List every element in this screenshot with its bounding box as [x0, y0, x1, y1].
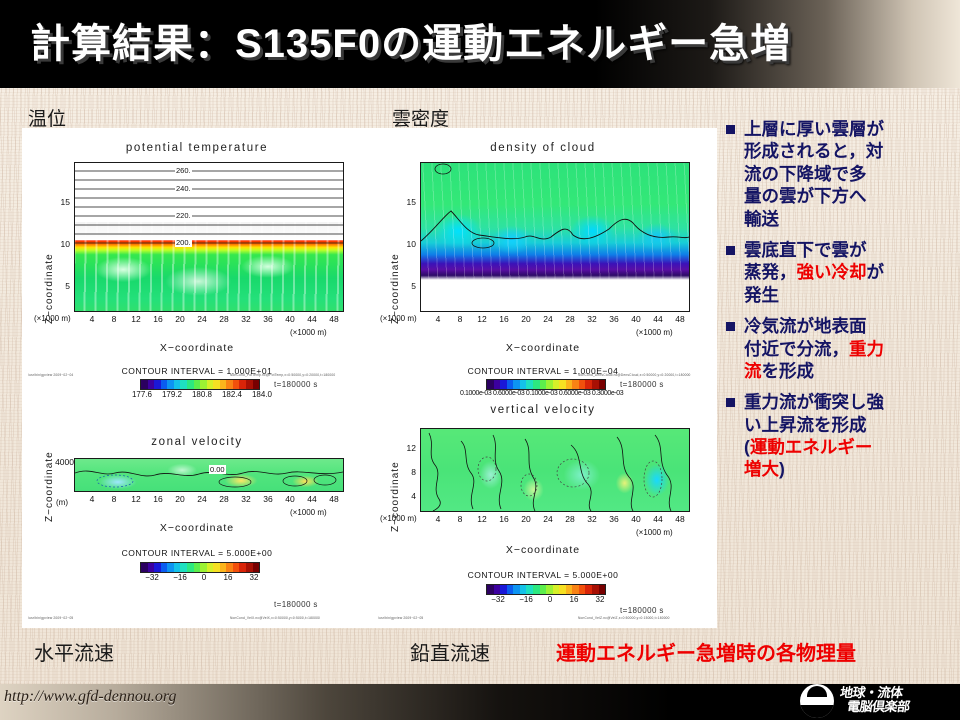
x-tick: 28 [219, 494, 228, 504]
micro-footer-right: NonCond_DensCloud.nc@DensCloud,x=0:50000… [578, 373, 691, 377]
timestamp: t=180000 s [274, 600, 318, 609]
x-unit-right: (×1000 m) [636, 528, 673, 537]
x-tick: 12 [477, 314, 486, 324]
x-tick: 40 [285, 494, 294, 504]
timestamp: t=180000 s [274, 380, 318, 389]
panel-zonal-velocity: zonal velocity Z−coordinate 4000 (m) 0.0… [32, 416, 362, 616]
x-tick: 44 [307, 494, 316, 504]
x-axis-label: X−coordinate [378, 544, 708, 556]
x-tick: 48 [329, 494, 338, 504]
cbar-tick: 0 [548, 595, 552, 604]
page-title: 計算結果：S135F0の運動エネルギー急増 [30, 24, 791, 64]
cbar-tick: 0 [202, 573, 206, 582]
x-tick: 16 [499, 514, 508, 524]
panel-title: zonal velocity [32, 436, 362, 448]
cbar-tick: −32 [491, 595, 505, 604]
cbar-tick: 182.4 [222, 390, 242, 399]
footer-url[interactable]: http://www.gfd-dennou.org [4, 688, 176, 706]
label-potential-temperature: 温位 [28, 104, 66, 131]
bullet-text-3: 冷気流が地表面付近で分流，重力流を形成 [744, 315, 884, 382]
x-tick: 12 [477, 514, 486, 524]
x-tick: 32 [241, 314, 250, 324]
y-tick: 12 [400, 443, 416, 453]
x-tick: 8 [112, 494, 117, 504]
x-tick: 16 [499, 314, 508, 324]
plot-area-vertical-velocity [420, 428, 690, 512]
timestamp: t=180000 s [620, 606, 664, 615]
x-tick: 48 [675, 514, 684, 524]
list-item: 冷気流が地表面付近で分流，重力流を形成 [726, 315, 954, 382]
micro-footer-left: /usr/bin/gpview 2009−02−04 [28, 373, 73, 377]
micro-footer-left: /usr/bin/gpview 2009−02−05 [378, 616, 423, 620]
x-tick: 40 [631, 514, 640, 524]
list-item: 重力流が衝突し強い上昇流を形成(運動エネルギー増大) [726, 391, 954, 481]
x-tick: 36 [609, 314, 618, 324]
plot-area-potential-temperature: 260. 240. 220. 200. [74, 162, 344, 312]
bullet-square-icon [726, 246, 735, 255]
colorbar-vertical-velocity [486, 584, 606, 595]
y-tick: 10 [54, 239, 70, 249]
x-tick: 44 [307, 314, 316, 324]
plot-area-density-of-cloud [420, 162, 690, 312]
contour-lines [75, 459, 343, 491]
cbar-tick: −16 [173, 573, 187, 582]
title-banner: 計算結果：S135F0の運動エネルギー急増 [0, 0, 960, 88]
x-tick: 4 [436, 314, 441, 324]
cbar-tick: 180.8 [192, 390, 212, 399]
contour-label: 260. [175, 166, 192, 175]
x-tick: 44 [653, 314, 662, 324]
x-tick: 28 [565, 314, 574, 324]
panel-title: density of cloud [378, 142, 708, 154]
x-tick: 8 [112, 314, 117, 324]
x-tick: 24 [197, 494, 206, 504]
x-tick: 24 [543, 514, 552, 524]
x-tick: 12 [131, 314, 140, 324]
bullet-text-4: 重力流が衝突し強い上昇流を形成(運動エネルギー増大) [744, 391, 884, 481]
contour-interval-note: CONTOUR INTERVAL = 5.000E+00 [378, 570, 708, 580]
x-tick: 48 [675, 314, 684, 324]
x-axis-label: X−coordinate [378, 342, 708, 354]
x-tick: 24 [543, 314, 552, 324]
cbar-tick: 32 [250, 573, 259, 582]
label-vertical-velocity: 鉛直流速 [410, 637, 490, 666]
x-axis-label: X−coordinate [32, 342, 362, 354]
x-tick: 20 [175, 494, 184, 504]
label-horizontal-velocity: 水平流速 [34, 637, 114, 666]
cbar-tick: −16 [519, 595, 533, 604]
y-tick: 8 [400, 467, 416, 477]
x-tick: 32 [587, 514, 596, 524]
x-tick: 36 [263, 494, 272, 504]
x-tick: 40 [631, 314, 640, 324]
list-item: 雲底直下で雲が蒸発，強い冷却が発生 [726, 239, 954, 306]
x-tick: 32 [587, 314, 596, 324]
x-tick: 4 [90, 494, 95, 504]
slide-canvas: 計算結果：S135F0の運動エネルギー急増 温位 雲密度 水平流速 鉛直流速 運… [0, 0, 960, 720]
x-tick: 36 [609, 514, 618, 524]
contour-label: 240. [175, 184, 192, 193]
x-tick: 36 [263, 314, 272, 324]
y-tick: 15 [54, 197, 70, 207]
cbar-tick: 16 [224, 573, 233, 582]
contour-label: 0.00 [209, 465, 226, 474]
x-tick: 20 [521, 314, 530, 324]
figure-panel-grid: potential temperature Z−coordinate 15 10… [22, 128, 717, 628]
logo-line-1: 地球・流体 [839, 687, 912, 701]
x-tick: 28 [219, 314, 228, 324]
x-tick: 20 [175, 314, 184, 324]
x-unit-right: (×1000 m) [290, 508, 327, 517]
cbar-tick: −32 [145, 573, 159, 582]
micro-footer-right: NonCond_VelZ.nc@VelZ,x=0:50000,y=0:15000… [578, 616, 670, 620]
contour-lines [75, 163, 343, 311]
y-tick: 4 [400, 491, 416, 501]
cbar-tick: 177.6 [132, 390, 152, 399]
bullet-list: 上層に厚い雲層が形成されると，対流の下降域で多量の雲が下方へ輸送 雲底直下で雲が… [726, 118, 954, 490]
x-tick: 40 [285, 314, 294, 324]
y-tick: 15 [400, 197, 416, 207]
x-tick: 16 [153, 314, 162, 324]
x-tick: 28 [565, 514, 574, 524]
label-cloud-density: 雲密度 [392, 104, 449, 131]
x-tick: 8 [458, 514, 463, 524]
x-tick: 48 [329, 314, 338, 324]
micro-footer-right: NonCond_VelX.nc@VelX,x=0:50000,y=0:5000,… [230, 616, 320, 620]
logo-wordmark: 地球・流体 電脳倶楽部 [837, 687, 912, 714]
bullet-square-icon [726, 322, 735, 331]
panel-potential-temperature: potential temperature Z−coordinate 15 10… [32, 136, 362, 384]
x-unit-left: (×1000 m) [380, 514, 417, 523]
contour-lines [421, 429, 689, 511]
panel-density-of-cloud: density of cloud Z−coordinate 15 10 5 4 … [378, 136, 708, 384]
x-unit-left: (×1000 m) [34, 314, 71, 323]
cbar-tick-raw: 0.1000e-03 0.6000e-03 0.1000e-03 0.6000e… [460, 390, 623, 397]
x-tick: 4 [90, 314, 95, 324]
logo-line-2: 電脳倶楽部 [846, 701, 910, 715]
bullet-square-icon [726, 125, 735, 134]
x-tick: 44 [653, 514, 662, 524]
logo-emblem-icon [800, 684, 834, 718]
colorbar-zonal-velocity [140, 562, 260, 573]
contour-lines [421, 163, 689, 311]
panel-title: potential temperature [32, 142, 362, 154]
y-tick: 5 [54, 281, 70, 291]
x-tick: 12 [131, 494, 140, 504]
cbar-tick: 179.2 [162, 390, 182, 399]
panel-title: vertical velocity [378, 404, 708, 416]
dennou-club-logo: 地球・流体 電脳倶楽部 [800, 682, 952, 720]
list-item: 上層に厚い雲層が形成されると，対流の下降域で多量の雲が下方へ輸送 [726, 118, 954, 230]
contour-label: 200. [175, 238, 192, 247]
bullet-square-icon [726, 398, 735, 407]
bullet-text-2: 雲底直下で雲が蒸発，強い冷却が発生 [744, 239, 884, 306]
contour-label: 220. [175, 211, 192, 220]
bullet-text-1: 上層に厚い雲層が形成されると，対流の下降域で多量の雲が下方へ輸送 [744, 118, 884, 230]
x-tick: 24 [197, 314, 206, 324]
y-tick: 10 [400, 239, 416, 249]
x-tick: 8 [458, 314, 463, 324]
micro-footer-left: /usr/bin/gpview 2009−02−05 [28, 616, 73, 620]
y-tick: 5 [400, 281, 416, 291]
cbar-tick: 32 [596, 595, 605, 604]
x-tick: 20 [521, 514, 530, 524]
plot-area-zonal-velocity: 0.00 [74, 458, 344, 492]
colorbar-potential-temperature [140, 379, 260, 390]
figure-caption-red: 運動エネルギー急増時の各物理量 [556, 637, 856, 666]
x-axis-label: X−coordinate [32, 522, 362, 534]
x-unit-right: (×1000 m) [636, 328, 673, 337]
x-tick: 4 [436, 514, 441, 524]
cbar-tick: 184.0 [252, 390, 272, 399]
x-unit-right: (×1000 m) [290, 328, 327, 337]
timestamp: t=180000 s [620, 380, 664, 389]
colorbar-density-of-cloud [486, 379, 606, 390]
x-tick: 16 [153, 494, 162, 504]
y-tick: 4000 [50, 457, 74, 467]
cbar-tick: 16 [570, 595, 579, 604]
x-tick: 32 [241, 494, 250, 504]
y-unit: (m) [56, 498, 68, 507]
x-unit-left: (×1000 m) [380, 314, 417, 323]
contour-interval-note: CONTOUR INTERVAL = 5.000E+00 [32, 548, 362, 558]
micro-footer-right: NonCond_PotTemp.nc@PotTemp,x=0:50000,y=0… [230, 373, 335, 377]
